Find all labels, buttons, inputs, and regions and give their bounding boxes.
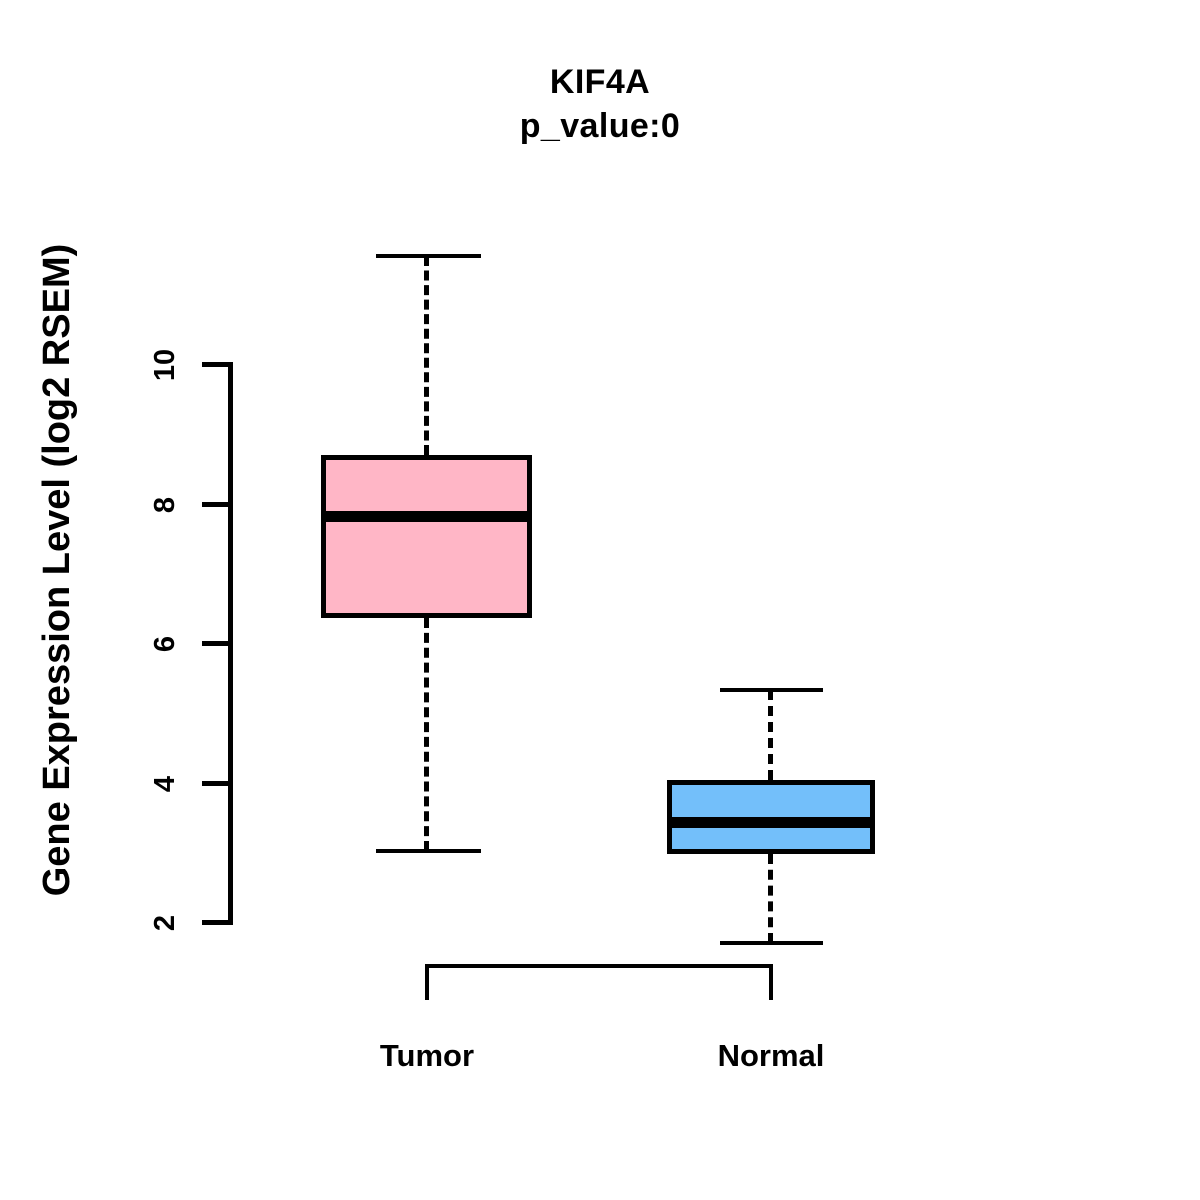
tumor-median-line bbox=[321, 511, 532, 522]
tumor-whisker-lower-stem bbox=[424, 618, 429, 851]
y-axis-tick-6 bbox=[202, 641, 228, 646]
tumor-whisker-upper-cap bbox=[376, 254, 481, 258]
y-axis-tick-4 bbox=[202, 781, 228, 786]
boxplot-figure: KIF4A p_value:0 Gene Expression Level (l… bbox=[0, 0, 1200, 1200]
y-axis-label-8: 8 bbox=[148, 475, 182, 535]
tumor-whisker-lower-cap bbox=[376, 849, 481, 853]
y-axis-title-wrapper: Gene Expression Level (log2 RSEM) bbox=[36, 150, 84, 990]
tumor-whisker-upper-stem bbox=[424, 256, 429, 455]
normal-median-line bbox=[667, 817, 875, 828]
y-axis-label-2: 2 bbox=[148, 893, 182, 953]
x-axis-tick-normal bbox=[769, 964, 773, 1000]
normal-whisker-lower-stem bbox=[768, 854, 773, 943]
chart-subtitle: p_value:0 bbox=[0, 106, 1200, 146]
normal-whisker-upper-stem bbox=[768, 690, 773, 780]
x-axis-tick-tumor bbox=[425, 964, 429, 1000]
y-axis-tick-2 bbox=[202, 920, 228, 925]
y-axis-label-4: 4 bbox=[148, 754, 182, 814]
normal-whisker-upper-cap bbox=[720, 688, 823, 692]
tumor-box-rect[interactable] bbox=[321, 455, 532, 618]
y-axis-title: Gene Expression Level (log2 RSEM) bbox=[36, 244, 78, 897]
y-axis-label-6: 6 bbox=[148, 614, 182, 674]
chart-title: KIF4A bbox=[0, 62, 1200, 102]
y-axis-label-10: 10 bbox=[148, 335, 182, 395]
normal-whisker-lower-cap bbox=[720, 941, 823, 945]
y-axis-tick-8 bbox=[202, 502, 228, 507]
x-axis-label-normal: Normal bbox=[671, 1038, 871, 1074]
y-axis-tick-10 bbox=[202, 362, 228, 367]
y-axis-spine bbox=[228, 362, 233, 925]
x-axis-label-tumor: Tumor bbox=[327, 1038, 527, 1074]
title-block: KIF4A p_value:0 bbox=[0, 62, 1200, 146]
x-axis-line bbox=[425, 964, 773, 968]
